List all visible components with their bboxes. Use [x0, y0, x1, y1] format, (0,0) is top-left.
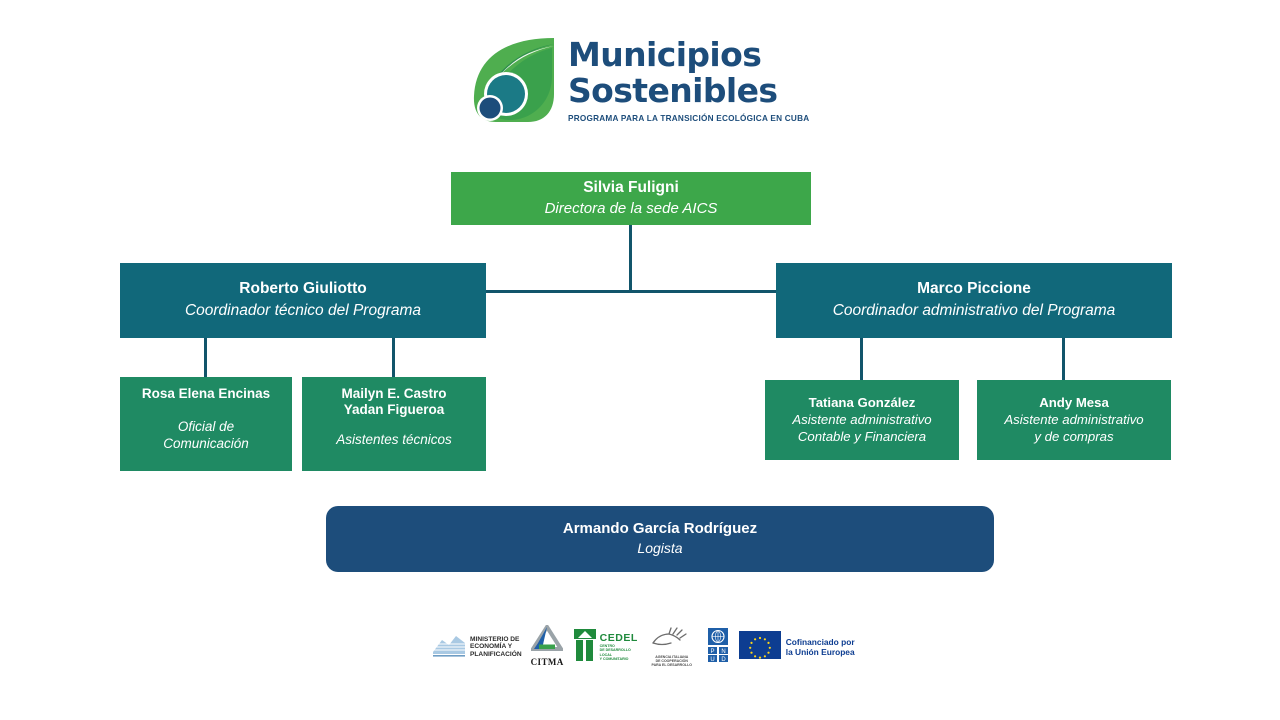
- org-node-tech-coordinator-role: Coordinador técnico del Programa: [185, 301, 421, 321]
- org-node-tech-coordinator[interactable]: Roberto Giuliotto Coordinador técnico de…: [120, 263, 486, 338]
- aics-label-block: AGENCIA ITALIANA DE COOPERACIÓN PARA EL …: [652, 655, 692, 668]
- org-node-admin-coordinator-name: Marco Piccione: [917, 280, 1031, 299]
- logo-aics: AGENCIA ITALIANA DE COOPERACIÓN PARA EL …: [647, 625, 697, 669]
- org-node-communications-name: Rosa Elena Encinas: [142, 386, 270, 402]
- citma-label: CITMA: [531, 657, 564, 667]
- org-node-technical-assistants-role: Asistentes técnicos: [336, 431, 452, 448]
- org-node-director-role: Directora de la sede AICS: [545, 200, 718, 219]
- brand-title-line1: Municipios: [568, 37, 809, 73]
- org-node-technical-assistants-name: Mailyn E. Castro Yadan Figueroa: [341, 386, 446, 419]
- org-node-communications-role-line1: Oficial de: [178, 419, 234, 434]
- eu-funding-label: Cofinanciado por la Unión Europea: [786, 637, 855, 657]
- citma-triangle-icon: [531, 625, 563, 656]
- logo-ministerio-economia-planificacion: MINISTERIO DE ECONOMÍA Y PLANIFICACIÓN: [432, 625, 522, 669]
- brand-header: Municipios Sostenibles PROGRAMA PARA LA …: [466, 28, 786, 132]
- cedel-columns-icon: [573, 628, 597, 667]
- org-node-finance-assistant-name: Tatiana González: [809, 395, 916, 411]
- footer-logo-strip: MINISTERIO DE ECONOMÍA Y PLANIFICACIÓN C…: [432, 622, 892, 672]
- pnud-un-emblem-icon: P N U D: [706, 627, 730, 668]
- org-node-director[interactable]: Silvia Fuligni Directora de la sede AICS: [451, 172, 811, 225]
- svg-text:P: P: [710, 648, 714, 654]
- logo-citma: CITMA: [531, 625, 564, 669]
- org-node-tech-coordinator-name: Roberto Giuliotto: [239, 280, 366, 299]
- cedel-label: CEDEL: [600, 633, 638, 644]
- svg-text:U: U: [710, 656, 714, 662]
- org-node-purchasing-assistant[interactable]: Andy Mesa Asistente administrativo y de …: [977, 380, 1171, 460]
- ministry-label-line2: ECONOMÍA Y: [470, 643, 522, 651]
- org-node-finance-assistant[interactable]: Tatiana González Asistente administrativ…: [765, 380, 959, 460]
- leaf-circles-logo-icon: [466, 34, 558, 126]
- org-node-purchasing-assistant-role-line1: Asistente administrativo: [1004, 412, 1143, 427]
- aics-sub-line3: PARA EL DESARROLLO: [652, 663, 692, 667]
- org-node-technical-assistants-name-line1: Mailyn E. Castro: [341, 386, 446, 401]
- org-node-admin-coordinator[interactable]: Marco Piccione Coordinador administrativ…: [776, 263, 1172, 338]
- ministry-label: MINISTERIO DE ECONOMÍA Y PLANIFICACIÓN: [470, 636, 522, 659]
- connector-finance-vertical: [860, 338, 863, 380]
- org-node-purchasing-assistant-role: Asistente administrativo y de compras: [1004, 412, 1143, 445]
- org-node-communications-role: Oficial de Comunicación: [163, 418, 249, 452]
- eu-funding-label-line2: la Unión Europea: [786, 647, 855, 657]
- org-node-logistics-name: Armando García Rodríguez: [563, 520, 757, 538]
- org-node-finance-assistant-role-line2: Contable y Financiera: [798, 429, 926, 444]
- org-node-logistics[interactable]: Armando García Rodríguez Logista: [326, 506, 994, 572]
- svg-text:D: D: [721, 656, 726, 662]
- brand-wordmark: Municipios Sostenibles PROGRAMA PARA LA …: [568, 37, 809, 123]
- ministry-label-line3: PLANIFICACIÓN: [470, 651, 522, 659]
- cedel-label-block: CEDEL CENTRO DE DESARROLLO LOCAL Y COMUN…: [600, 633, 638, 662]
- org-node-technical-assistants[interactable]: Mailyn E. Castro Yadan Figueroa Asistent…: [302, 377, 486, 471]
- org-node-finance-assistant-role: Asistente administrativo Contable y Fina…: [792, 412, 931, 445]
- logo-cedel: CEDEL CENTRO DE DESARROLLO LOCAL Y COMUN…: [573, 625, 638, 669]
- org-node-technical-assistants-name-line2: Yadan Figueroa: [344, 402, 445, 417]
- svg-text:N: N: [721, 648, 725, 654]
- logo-pnud: P N U D: [706, 625, 730, 669]
- connector-assistants-vertical: [392, 338, 395, 377]
- logo-european-union: Cofinanciado por la Unión Europea: [739, 625, 855, 669]
- org-node-purchasing-assistant-role-line2: y de compras: [1034, 429, 1113, 444]
- connector-purchasing-vertical: [1062, 338, 1065, 380]
- brand-title-line2: Sostenibles: [568, 73, 809, 109]
- eu-funding-label-line1: Cofinanciado por: [786, 637, 855, 647]
- org-node-director-name: Silvia Fuligni: [583, 179, 679, 198]
- connector-comms-vertical: [204, 338, 207, 377]
- org-node-communications[interactable]: Rosa Elena Encinas Oficial de Comunicaci…: [120, 377, 292, 471]
- org-node-admin-coordinator-role: Coordinador administrativo del Programa: [833, 301, 1116, 321]
- org-node-communications-role-line2: Comunicación: [163, 436, 249, 451]
- connector-director-vertical: [629, 225, 632, 292]
- eu-flag-icon: [739, 631, 781, 664]
- aics-hand-icon: [647, 625, 697, 654]
- org-node-finance-assistant-role-line1: Asistente administrativo: [792, 412, 931, 427]
- org-node-purchasing-assistant-name: Andy Mesa: [1039, 395, 1109, 411]
- ministry-stripes-icon: [432, 632, 466, 663]
- brand-tagline: PROGRAMA PARA LA TRANSICIÓN ECOLÓGICA EN…: [568, 114, 809, 123]
- org-node-logistics-role: Logista: [637, 540, 682, 558]
- cedel-sub-line4: Y COMUNITARIO: [600, 657, 638, 661]
